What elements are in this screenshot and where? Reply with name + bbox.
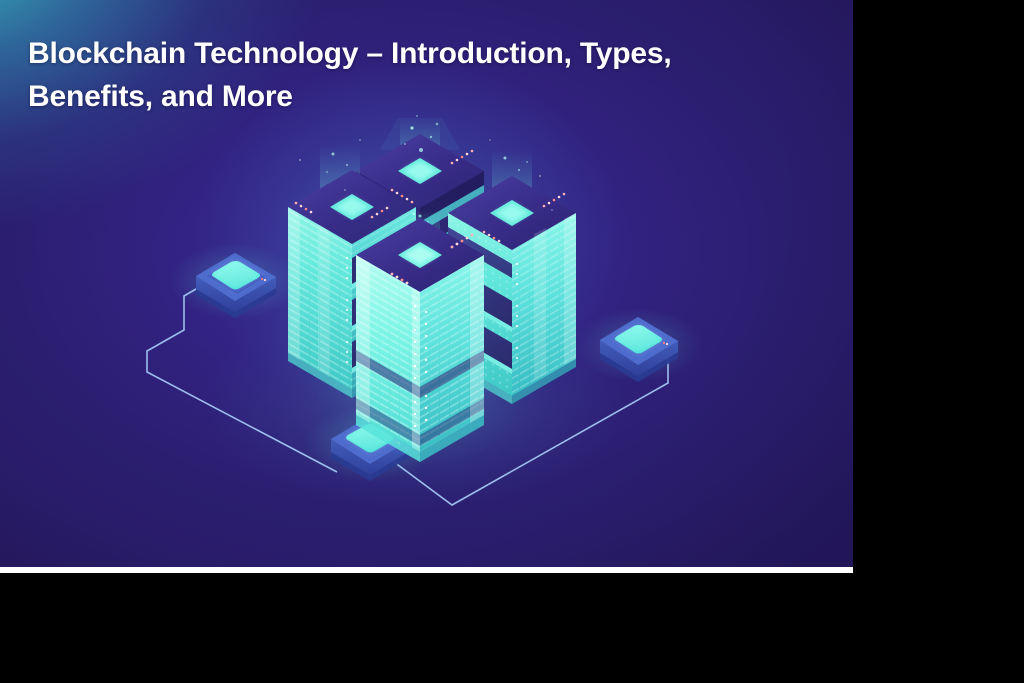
page-title: Blockchain Technology – Introduction, Ty… xyxy=(28,33,728,118)
bottom-white-divider xyxy=(0,567,853,573)
hero-illustration-card: Blockchain Technology – Introduction, Ty… xyxy=(0,0,853,567)
screenshot-root: Blockchain Technology – Introduction, Ty… xyxy=(0,0,1024,683)
